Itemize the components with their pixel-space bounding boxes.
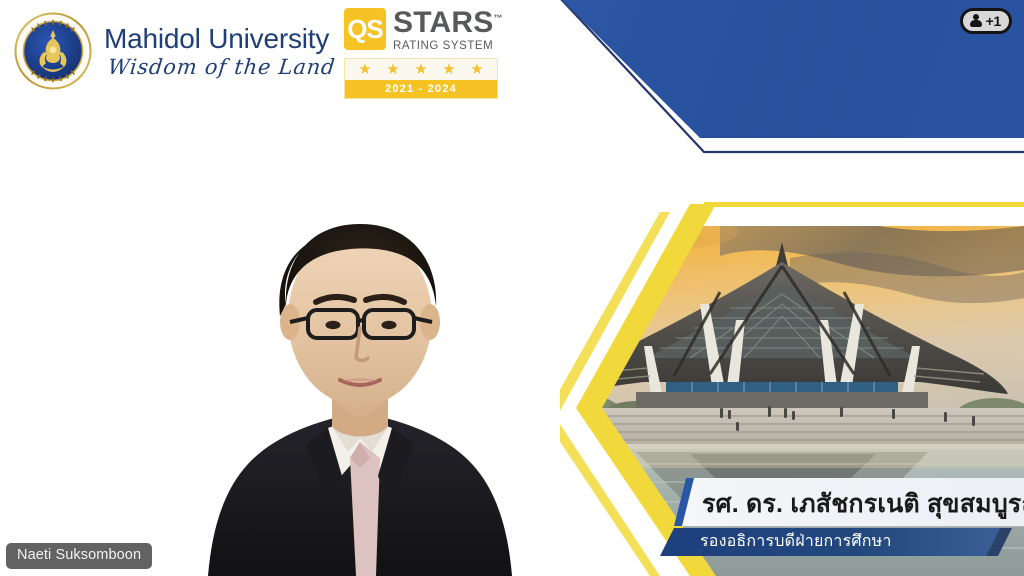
star-icon: ★: [470, 62, 483, 77]
speaker-name-th: รศ. ดร. เภสัชกรเนติ สุขสมบูรณ์: [702, 480, 1024, 528]
person-icon: [970, 14, 983, 28]
qs-trademark-symbol: ™: [493, 13, 502, 23]
qs-stars-top-row: QS STARS™ RATING SYSTEM: [344, 8, 502, 53]
qs-stars-text: STARS: [393, 6, 493, 39]
qs-mark-label: QS: [347, 16, 383, 42]
star-icon: ★: [442, 62, 455, 77]
qs-wordmark: STARS™ RATING SYSTEM: [393, 8, 502, 53]
university-name: Mahidol University: [104, 24, 335, 53]
mahidol-seal-icon: [14, 12, 92, 90]
star-icon: ★: [414, 62, 427, 77]
speaker-role-th: รองอธิการบดีฝ่ายการศึกษา: [700, 527, 1024, 555]
qs-stars-word: STARS™: [393, 9, 502, 38]
qs-validity-years: 2021 - 2024: [345, 80, 497, 98]
participant-count-badge[interactable]: +1: [960, 8, 1012, 34]
speaker-portrait: [160, 176, 560, 576]
video-call-slide-frame: +1: [0, 0, 1024, 576]
qs-star-row: ★ ★ ★ ★ ★: [345, 59, 497, 80]
video-tile-name-label: Naeti Suksomboon: [6, 543, 152, 569]
mahidol-logo-lockup: Mahidol University Wisdom of the Land: [14, 12, 335, 90]
qs-mark-icon: QS: [344, 8, 386, 50]
star-icon: ★: [358, 62, 371, 77]
mahidol-wordmark: Mahidol University Wisdom of the Land: [104, 22, 335, 80]
participant-count-label: +1: [986, 14, 1001, 28]
qs-rating-system-label: RATING SYSTEM: [393, 38, 502, 53]
qs-star-rating-bar: ★ ★ ★ ★ ★ 2021 - 2024: [344, 58, 498, 99]
qs-stars-logo: QS STARS™ RATING SYSTEM ★ ★ ★ ★ ★ 2021 -…: [344, 8, 502, 99]
star-icon: ★: [386, 62, 399, 77]
university-tagline: Wisdom of the Land: [103, 54, 337, 80]
